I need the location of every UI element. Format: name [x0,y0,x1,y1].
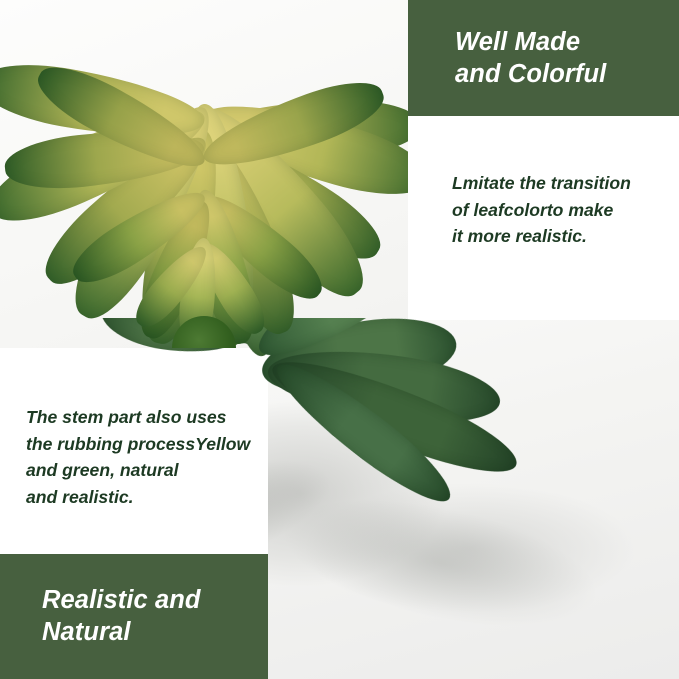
product-infographic: Well Made and Colorful Lmitate the trans… [0,0,679,679]
body-panel-bottom-left: The stem part also uses the rubbing proc… [0,348,268,554]
header-panel-top-right: Well Made and Colorful [408,0,679,116]
agave-rosette-photo [0,0,408,348]
body-text-leaf-color: Lmitate the transition of leafcolorto ma… [452,170,670,250]
leaf-shadow [215,426,665,679]
body-text-stem-part: The stem part also uses the rubbing proc… [26,404,268,511]
heading-well-made-and-colorful: Well Made and Colorful [455,26,606,90]
body-panel-top-right: Lmitate the transition of leafcolorto ma… [408,116,679,320]
heading-realistic-and-natural: Realistic and Natural [42,584,201,648]
footer-panel-bottom-left: Realistic and Natural [0,554,268,679]
